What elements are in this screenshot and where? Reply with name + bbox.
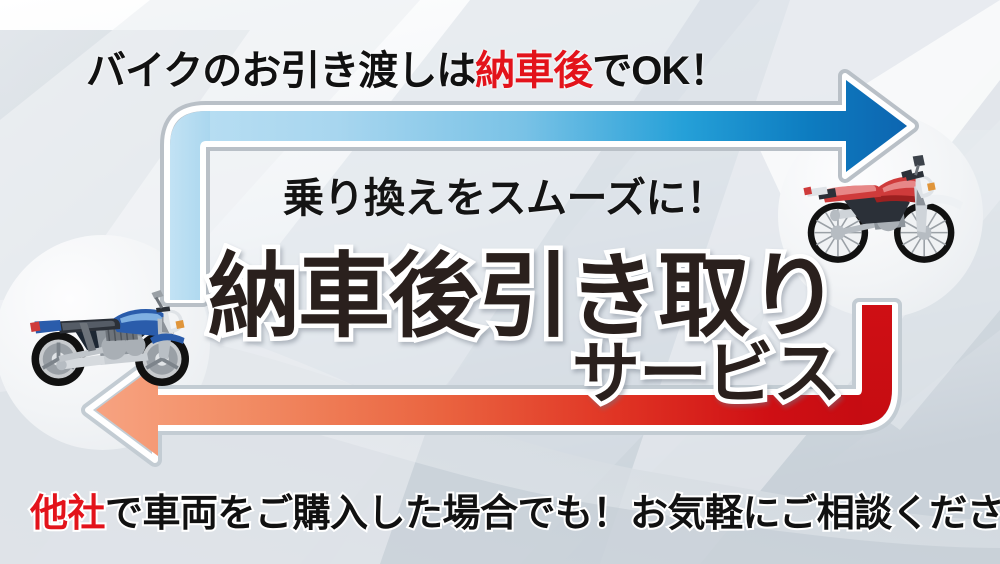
- blue-street-motorcycle: [15, 275, 210, 395]
- top-caption: バイクのお引き渡しは納車後でOK！: [86, 38, 728, 96]
- sub-headline: 乗り換えをスムーズに！: [283, 164, 726, 224]
- top-caption-highlight: 納車後: [475, 49, 592, 93]
- bottom-caption-after: で車両をご購入した場合でも！お気軽にご相談ください！: [105, 493, 1000, 535]
- top-caption-before: バイクのお引き渡しは: [86, 49, 475, 93]
- bottom-caption-highlight: 他社: [30, 493, 105, 535]
- top-caption-after: でOK！: [592, 49, 728, 93]
- headline-line-2: サービス: [572, 318, 840, 417]
- bottom-caption: 他社で車両をご購入した場合でも！お気軽にご相談ください！: [30, 482, 1000, 537]
- promo-banner: バイクのお引き渡しは納車後でOK！ 乗り換えをスムーズに！ 納車後引き取り サー…: [0, 0, 1000, 564]
